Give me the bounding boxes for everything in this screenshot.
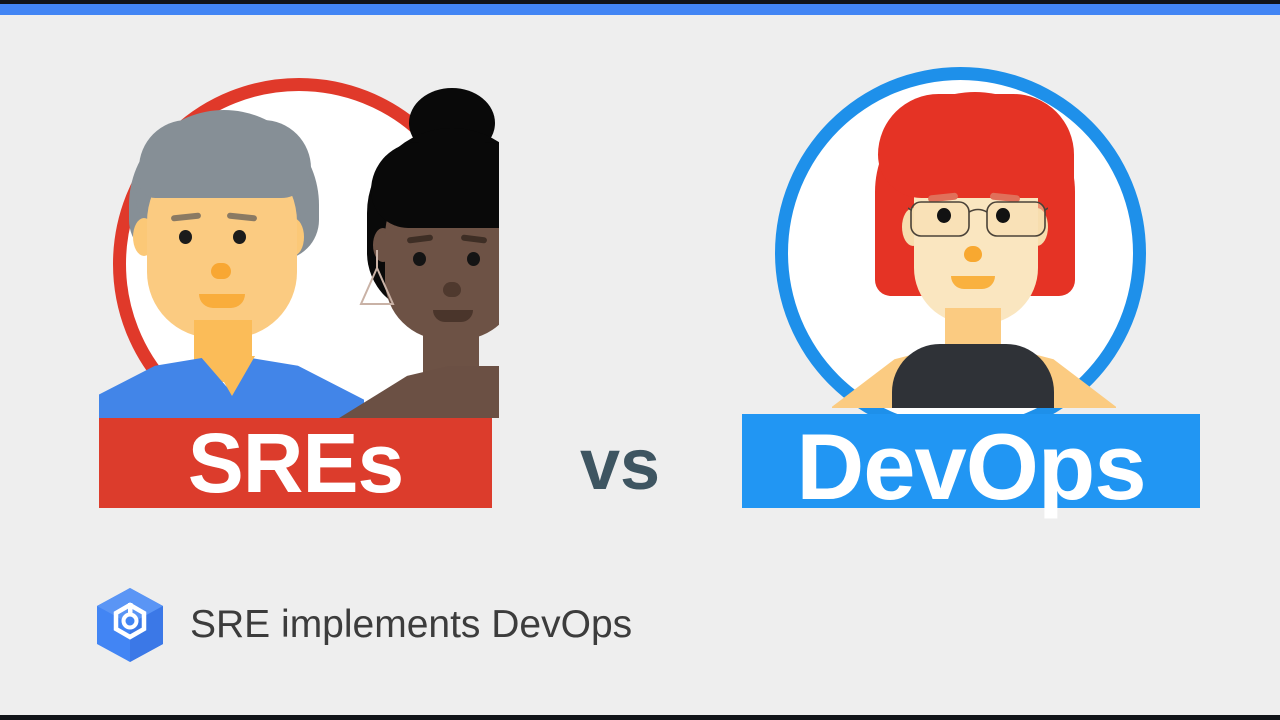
devops-nose — [964, 246, 982, 262]
triangle-earring-left-icon — [357, 250, 397, 312]
devops-eye-right — [996, 208, 1010, 223]
devops-banner: DevOps — [742, 414, 1200, 508]
vs-label: vs — [540, 420, 700, 510]
sres-avatar-illustration — [99, 70, 499, 418]
caption-text: SRE implements DevOps — [190, 603, 632, 647]
male-mouth — [199, 294, 245, 308]
sres-banner-label: SREs — [188, 421, 403, 505]
devops-eye-left — [937, 208, 951, 223]
devops-banner-label: DevOps — [796, 420, 1145, 514]
female-shirt — [339, 366, 499, 418]
vs-label-text: vs — [580, 429, 660, 501]
devops-tank-top — [892, 344, 1054, 408]
caption: SRE implements DevOps — [94, 586, 632, 664]
female-eye-left — [413, 252, 426, 266]
devops-mouth — [951, 276, 995, 289]
video-frame: SREs vs — [0, 0, 1280, 720]
female-eye-right — [467, 252, 480, 266]
letterbox-bottom — [0, 715, 1280, 720]
google-cloud-hexagon-icon — [94, 586, 166, 664]
male-eye-right — [233, 230, 246, 244]
male-nose — [211, 263, 231, 279]
female-nose — [443, 282, 461, 297]
devops-avatar-illustration — [742, 60, 1202, 408]
male-eye-left — [179, 230, 192, 244]
sres-banner: SREs — [99, 418, 492, 508]
female-fringe — [371, 142, 499, 228]
progress-bar[interactable] — [0, 4, 1280, 15]
glasses-icon — [908, 196, 1048, 242]
male-fringe — [139, 120, 311, 198]
female-mouth — [433, 310, 473, 322]
devops-fringe — [878, 94, 1074, 198]
